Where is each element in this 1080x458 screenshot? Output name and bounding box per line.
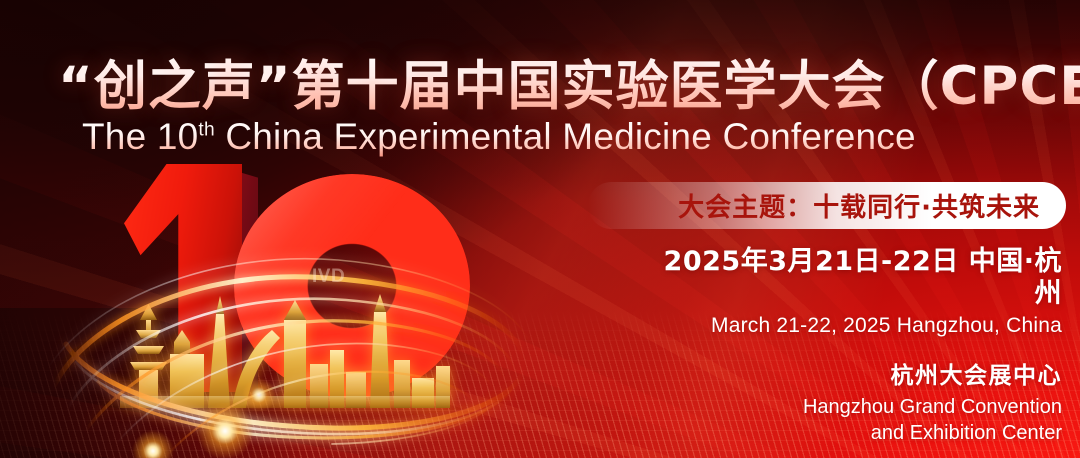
event-venue-en-line1: Hangzhou Grand Convention [642,394,1062,420]
event-info-block: 2025年3月21日-22日 中国·杭州 March 21-22, 2025 H… [642,246,1062,447]
anniversary-emblem: IVD [62,150,532,450]
light-flare [196,402,254,458]
event-venue-en-line2: and Exhibition Center [642,420,1062,446]
event-date-cn: 2025年3月21日-22日 中国·杭州 [642,246,1062,310]
conference-title-en: The 10th China Experimental Medicine Con… [82,116,916,158]
event-date-en: March 21-22, 2025 Hangzhou, China [642,314,1062,338]
conference-theme-pill: 大会主题：十载同行·共筑未来 [588,182,1066,229]
event-venue-en: Hangzhou Grand Convention and Exhibition… [642,394,1062,447]
title-en-post: China Experimental Medicine Conference [215,116,916,157]
conference-banner: IVD “创之声”第十届中国实验医学大会（CPCEM） The 10th Chi… [0,0,1080,458]
conference-title-cn: “创之声”第十届中国实验医学大会（CPCEM） [58,44,1080,120]
title-en-ordinal: th [198,120,214,141]
title-en-pre: The 10 [82,116,198,157]
conference-theme-label: 大会主题：十载同行·共筑未来 [678,187,1040,224]
ivd-watermark: IVD [312,266,345,288]
event-venue-cn: 杭州大会展中心 [642,356,1062,390]
light-flare [242,378,276,412]
light-ribbon-swirls [46,172,566,458]
